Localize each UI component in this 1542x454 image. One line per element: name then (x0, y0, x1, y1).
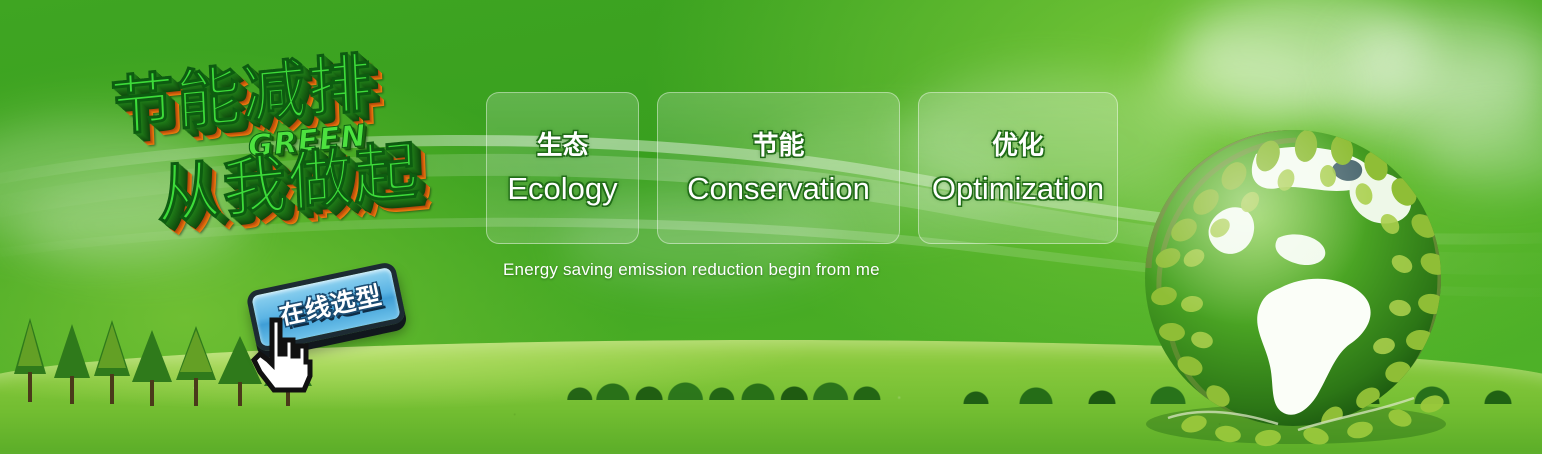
headline-artwork: 节能减排 GREEN 从我做起 (96, 36, 496, 266)
feature-card-conservation[interactable]: 节能 Conservation (657, 92, 900, 244)
feature-card-cn-label: 生态 (536, 133, 588, 159)
feature-card-optimization[interactable]: 优化 Optimization (918, 92, 1118, 244)
feature-card-cn-label: 优化 (992, 133, 1044, 159)
tagline-text: Energy saving emission reduction begin f… (503, 260, 880, 280)
feature-card-en-label: Optimization (932, 173, 1104, 204)
leafy-globe-icon (1128, 118, 1458, 448)
hand-pointer-icon (244, 314, 318, 396)
feature-card-en-label: Ecology (507, 173, 617, 204)
eco-promo-banner: 节能减排 GREEN 从我做起 在线选型 生态 Ecology 节能 Conse… (0, 0, 1542, 454)
feature-card-list: 生态 Ecology 节能 Conservation 优化 Optimizati… (486, 92, 1118, 244)
tree-icon (560, 374, 890, 400)
feature-card-en-label: Conservation (687, 173, 870, 204)
feature-card-ecology[interactable]: 生态 Ecology (486, 92, 639, 244)
feature-card-cn-label: 节能 (752, 133, 804, 159)
online-selection-cta[interactable]: 在线选型 (250, 272, 430, 384)
